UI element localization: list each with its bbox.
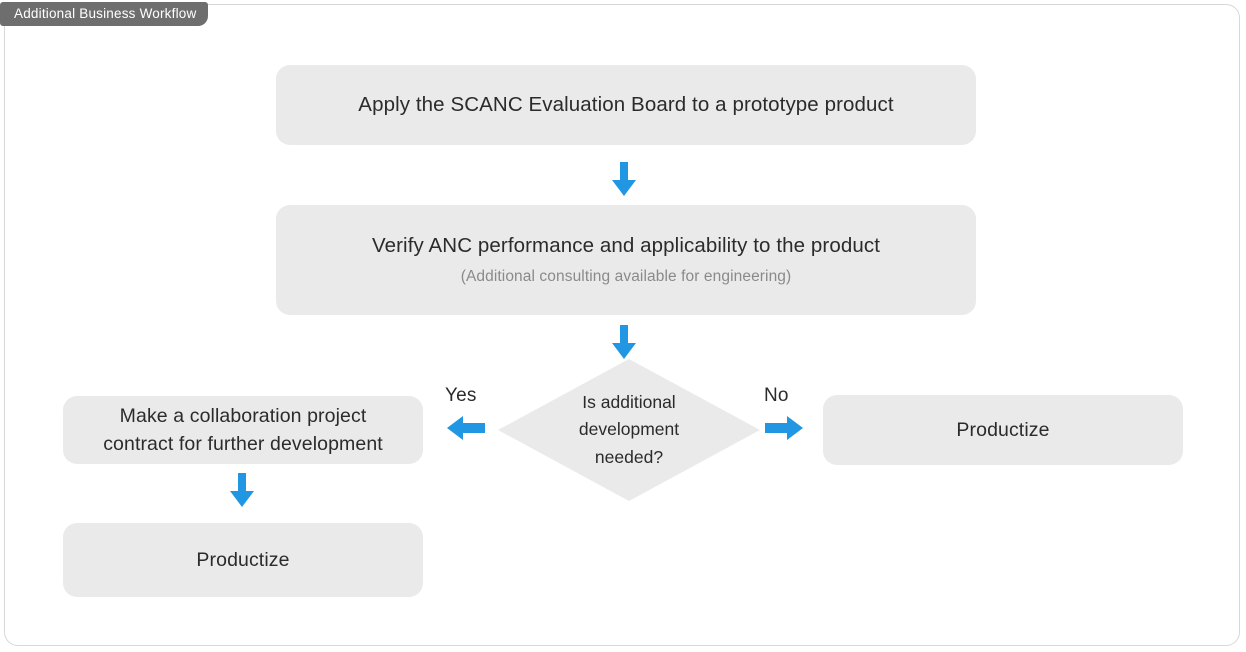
node-collaboration-line-1: Make a collaboration project <box>120 402 367 430</box>
branch-label-no: No <box>764 385 789 407</box>
node-decision-label: Is additional development needed? <box>498 359 760 501</box>
arrow-down-icon <box>610 162 638 198</box>
node-decision-line-1: Is additional <box>582 389 675 416</box>
node-apply-label: Apply the SCANC Evaluation Board to a pr… <box>358 91 893 119</box>
node-apply-evaluation-board: Apply the SCANC Evaluation Board to a pr… <box>276 65 976 145</box>
node-productize-left: Productize <box>63 523 423 597</box>
node-collaboration-line-2: contract for further development <box>103 430 383 458</box>
arrow-down-icon <box>228 473 256 509</box>
node-verify-anc-performance: Verify ANC performance and applicability… <box>276 205 976 315</box>
node-verify-label: Verify ANC performance and applicability… <box>372 232 880 260</box>
branch-label-yes: Yes <box>445 385 477 407</box>
node-decision-line-2: development <box>579 416 679 443</box>
arrow-left-icon <box>447 413 487 443</box>
arrow-down-icon <box>610 325 638 361</box>
diagram-title-tab: Additional Business Workflow <box>0 2 208 26</box>
node-productize-right-label: Productize <box>956 417 1049 443</box>
node-verify-sublabel: (Additional consulting available for eng… <box>461 266 792 288</box>
workflow-diagram-canvas: Additional Business Workflow Apply the S… <box>0 0 1246 652</box>
arrow-right-icon <box>763 413 803 443</box>
node-productize-right: Productize <box>823 395 1183 465</box>
node-productize-left-label: Productize <box>196 547 289 573</box>
node-collaboration-contract: Make a collaboration project contract fo… <box>63 396 423 464</box>
node-decision-line-3: needed? <box>595 444 663 471</box>
node-decision-additional-development: Is additional development needed? <box>498 359 760 501</box>
